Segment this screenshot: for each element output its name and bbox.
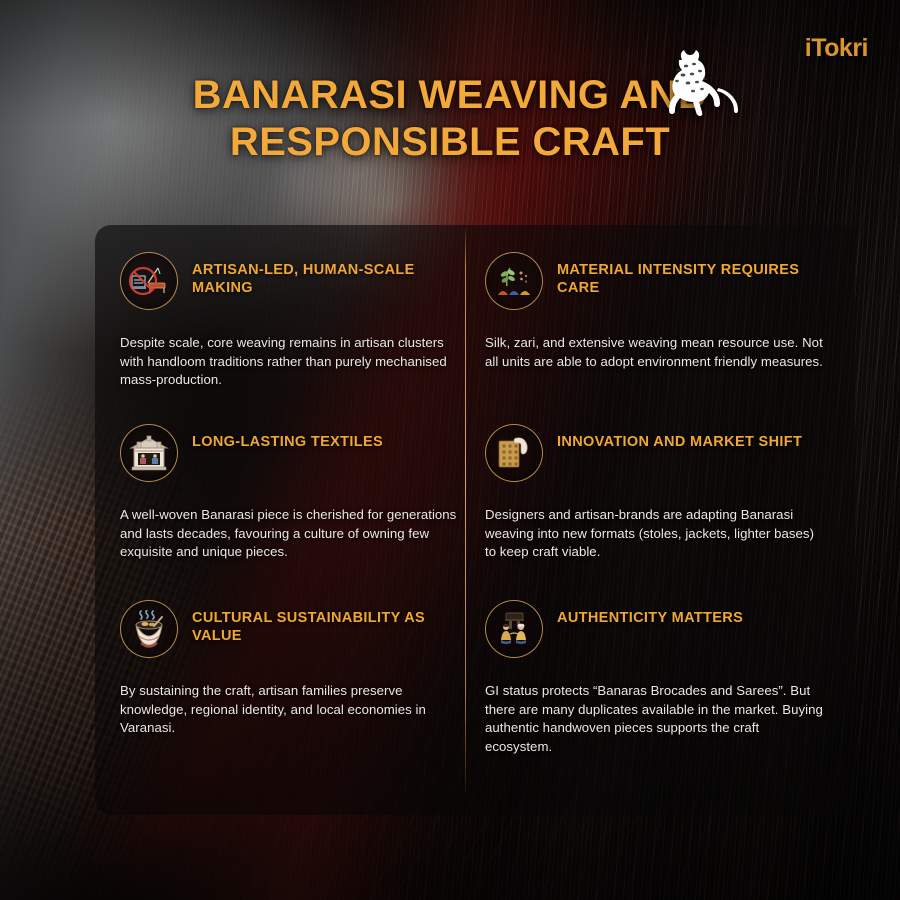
card-cultural-sustainability-as-value: CULTURAL SUSTAINABILITY AS VALUE By sust… [120,600,465,738]
card-material-intensity-requires-care: MATERIAL INTENSITY REQUIRES CARE Silk, z… [485,252,830,371]
plant-dye-pigments-icon [485,252,543,310]
card-body-text: A well-woven Banarasi piece is cherished… [120,506,465,562]
hand-holding-brocade-icon [485,424,543,482]
card-artisan-led-human-scale-making: ARTISAN-LED, HUMAN-SCALE MAKING Despite … [120,252,465,390]
card-title: AUTHENTICITY MATTERS [557,600,743,627]
poster-header: BANARASI WEAVING AND RESPONSIBLE CRAFT [0,0,900,210]
card-title: INNOVATION AND MARKET SHIFT [557,424,802,451]
leopard-cat-logo-icon [662,44,740,116]
card-title: MATERIAL INTENSITY REQUIRES CARE [557,252,830,297]
vertical-divider-line [465,228,466,793]
card-body-text: GI status protects “Banaras Brocades and… [485,682,825,757]
card-authenticity-matters: AUTHENTICITY MATTERS GI status protects … [485,600,830,757]
card-innovation-and-market-shift: INNOVATION AND MARKET SHIFT Designers an… [485,424,830,562]
page-title-line-2: RESPONSIBLE CRAFT [90,119,810,166]
card-header: MATERIAL INTENSITY REQUIRES CARE [485,252,830,314]
card-title: ARTISAN-LED, HUMAN-SCALE MAKING [192,252,465,297]
card-body-text: Silk, zari, and extensive weaving mean r… [485,334,825,371]
heritage-shop-building-icon [120,424,178,482]
card-header: INNOVATION AND MARKET SHIFT [485,424,830,486]
two-artisans-at-loom-icon [485,600,543,658]
card-body-text: By sustaining the craft, artisan familie… [120,682,465,738]
card-long-lasting-textiles: LONG-LASTING TEXTILES A well-woven Banar… [120,424,465,562]
infographic-poster: BANARASI WEAVING AND RESPONSIBLE CRAFT [0,0,900,900]
card-title: CULTURAL SUSTAINABILITY AS VALUE [192,600,465,645]
card-title: LONG-LASTING TEXTILES [192,424,383,451]
card-header: LONG-LASTING TEXTILES [120,424,465,486]
card-body-text: Despite scale, core weaving remains in a… [120,334,465,390]
brand-logo-wordmark: iTokri [805,34,868,63]
card-body-text: Designers and artisan-brands are adaptin… [485,506,825,562]
no-machine-loom-icon [120,252,178,310]
card-header: ARTISAN-LED, HUMAN-SCALE MAKING [120,252,465,314]
card-header: AUTHENTICITY MATTERS [485,600,830,662]
card-header: CULTURAL SUSTAINABILITY AS VALUE [120,600,465,662]
steaming-pot-icon [120,600,178,658]
